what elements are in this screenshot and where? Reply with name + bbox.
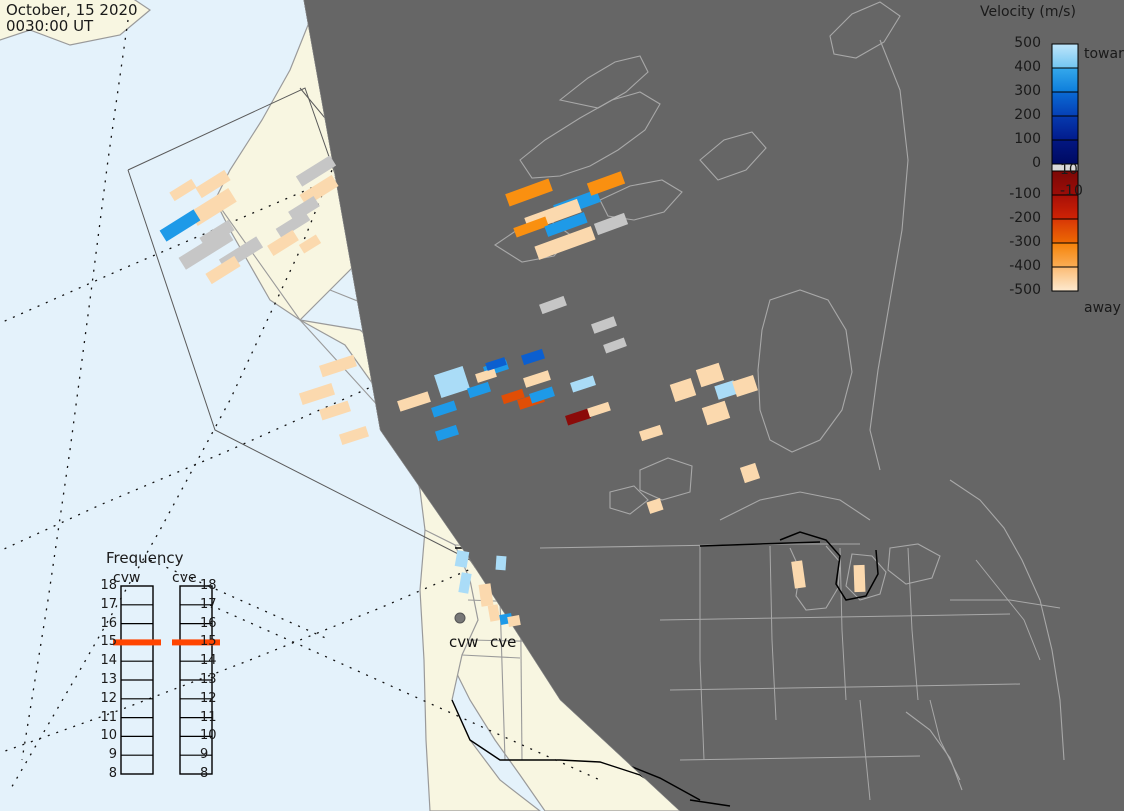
colorbar-tick: 400 xyxy=(995,59,1041,75)
frequency-scale-label: 9 xyxy=(200,747,222,762)
frequency-scale-label: 13 xyxy=(95,672,117,687)
frequency-scale-label: 8 xyxy=(95,766,117,781)
frequency-scale-label: 15 xyxy=(95,634,117,649)
colorbar-tick: -300 xyxy=(995,234,1041,250)
map-canvas xyxy=(0,0,1124,811)
frequency-scale-label: 12 xyxy=(95,691,117,706)
frequency-marker xyxy=(113,639,161,645)
title-time: 0030:00 UT xyxy=(6,17,93,35)
radar-cell xyxy=(854,565,866,592)
colorbar-tick: 0 xyxy=(995,155,1041,171)
colorbar-tick: -400 xyxy=(995,258,1041,274)
colorbar-segment-toward xyxy=(1052,44,1078,68)
frequency-scale-label: 17 xyxy=(95,597,117,612)
colorbar-tick: 300 xyxy=(995,83,1041,99)
frequency-scale-label: 16 xyxy=(95,616,117,631)
site-label-cvw: cvw xyxy=(449,633,478,651)
radar-site-marker xyxy=(455,613,465,623)
frequency-scale-label: 14 xyxy=(95,653,117,668)
frequency-scale-label: 12 xyxy=(200,691,222,706)
frequency-scale-label: 18 xyxy=(95,578,117,593)
colorbar-tick: -500 xyxy=(995,282,1041,298)
frequency-scale-label: 11 xyxy=(200,710,222,725)
colorbar-toward-label: toward xyxy=(1084,46,1124,62)
frequency-scale-label: 10 xyxy=(200,728,222,743)
frequency-scale-label: 17 xyxy=(200,597,222,612)
colorbar-tick: 500 xyxy=(995,35,1041,51)
frequency-scale-label: 13 xyxy=(200,672,222,687)
timestamp-title: October, 15 20200030:00 UT xyxy=(6,2,138,34)
colorbar-upper-inner-label: 10 xyxy=(1060,162,1078,178)
frequency-scale-label: 15 xyxy=(200,634,222,649)
colorbar-segment-away xyxy=(1052,219,1078,243)
colorbar-segment-away xyxy=(1052,243,1078,267)
frequency-column-header-cvw: cvw xyxy=(113,570,140,586)
frequency-legend-title: Frequency xyxy=(106,549,184,567)
frequency-scale-label: 11 xyxy=(95,710,117,725)
frequency-column-header-cve: cve xyxy=(172,570,197,586)
radar-cell xyxy=(507,615,521,627)
site-label-cve: cve xyxy=(490,633,516,651)
frequency-scale-label: 18 xyxy=(200,578,222,593)
colorbar-tick: 200 xyxy=(995,107,1041,123)
frequency-scale-label: 10 xyxy=(95,728,117,743)
colorbar-segment-toward xyxy=(1052,140,1078,164)
colorbar-segment-away xyxy=(1052,267,1078,291)
frequency-scale-label: 16 xyxy=(200,616,222,631)
colorbar-segment-toward xyxy=(1052,68,1078,92)
colorbar-tick: 100 xyxy=(995,131,1041,147)
colorbar-lower-inner-label: -10 xyxy=(1060,183,1083,199)
frequency-scale-label: 14 xyxy=(200,653,222,668)
frequency-scale-label: 8 xyxy=(200,766,222,781)
colorbar-away-label: away xyxy=(1084,300,1121,316)
radar-cell xyxy=(496,556,507,571)
colorbar-segment-toward xyxy=(1052,92,1078,116)
radar-map-figure: October, 15 20200030:00 UT Velocity (m/s… xyxy=(0,0,1124,811)
colorbar-tick: -200 xyxy=(995,210,1041,226)
frequency-scale-label: 9 xyxy=(95,747,117,762)
colorbar-tick: -100 xyxy=(995,186,1041,202)
colorbar-title: Velocity (m/s) xyxy=(980,4,1076,20)
colorbar-segment-toward xyxy=(1052,116,1078,140)
